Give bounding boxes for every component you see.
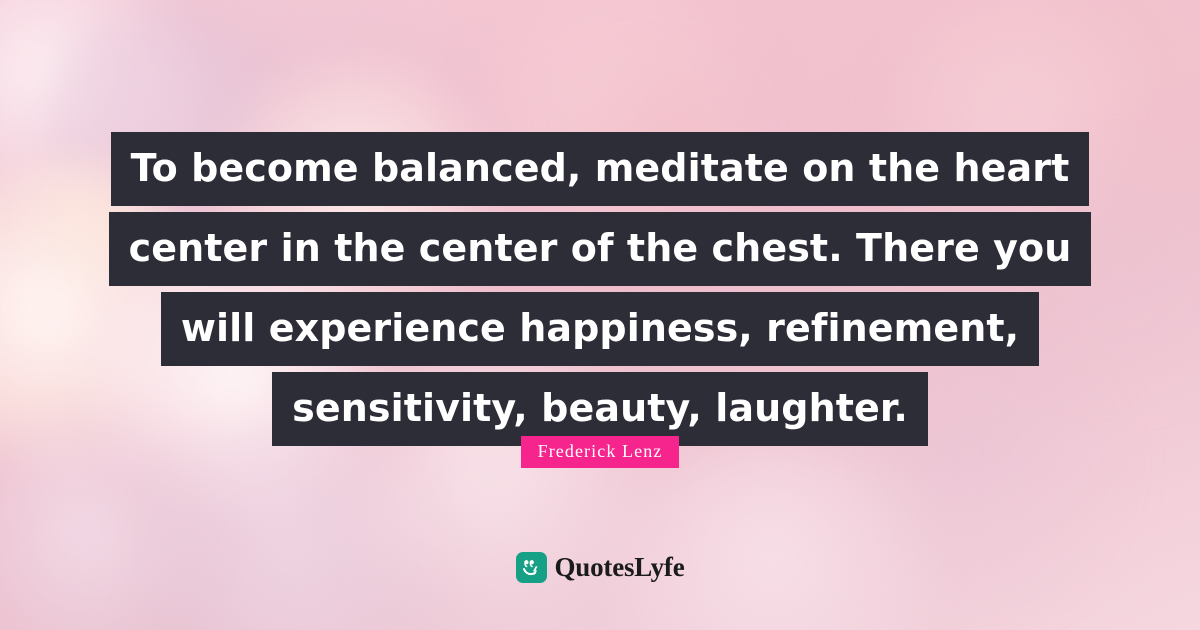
brand-logo[interactable]: QuotesLyfe [0,552,1200,583]
author-name-badge[interactable]: Frederick Lenz [521,436,680,468]
quote-text-block: To become balanced, meditate on the hear… [0,132,1200,452]
quote-line: sensitivity, beauty, laughter. [272,372,928,446]
quote-smiley-icon [516,552,547,583]
quote-line: will experience happiness, refinement, [161,292,1039,366]
quote-line: center in the center of the chest. There… [109,212,1092,286]
brand-name: QuotesLyfe [555,552,685,583]
author-attribution: Frederick Lenz [0,436,1200,468]
quote-line: To become balanced, meditate on the hear… [111,132,1090,206]
quote-card: To become balanced, meditate on the hear… [0,0,1200,630]
